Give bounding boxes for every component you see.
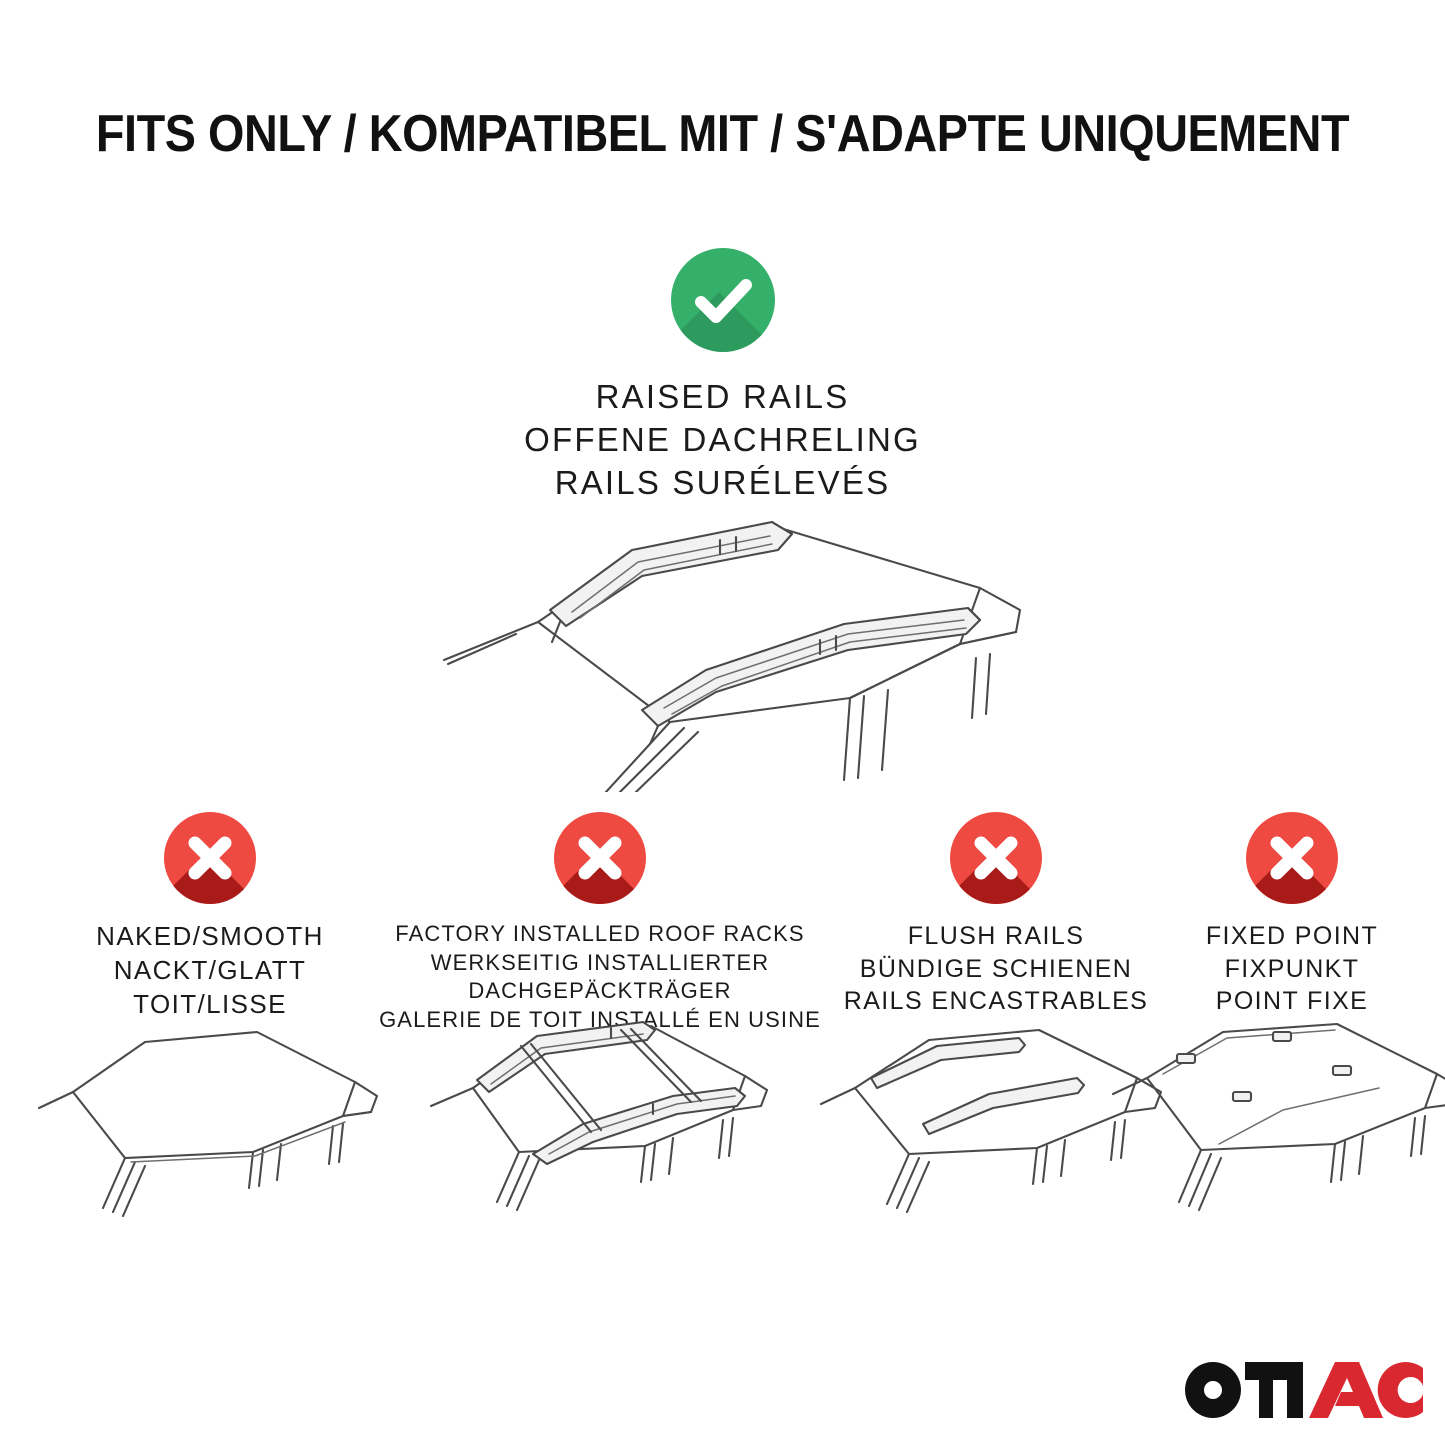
item-label-en: FACTORY INSTALLED ROOF RACKS: [378, 920, 822, 949]
check-circle-icon: [671, 248, 775, 352]
item-label-en: FIXED POINT: [1152, 920, 1432, 953]
item-label-de: NACKT/GLATT: [30, 954, 390, 988]
incompatible-item-fixed-point: FIXED POINT FIXPUNKT POINT FIXE: [1152, 812, 1432, 1018]
item-label-de: BÜNDIGE SCHIENEN: [822, 953, 1170, 986]
x-circle-icon: [1246, 812, 1338, 904]
compatible-label-de: OFFENE DACHRELING: [0, 419, 1445, 462]
compatible-labels: RAISED RAILS OFFENE DACHRELING RAILS SUR…: [0, 376, 1445, 505]
omac-logo: [1183, 1362, 1423, 1418]
logo-letter-m: [1245, 1362, 1303, 1418]
compatible-section: RAISED RAILS OFFENE DACHRELING RAILS SUR…: [0, 248, 1445, 505]
x-mark-glyph: [950, 812, 1042, 904]
item-labels: NAKED/SMOOTH NACKT/GLATT TOIT/LISSE: [30, 920, 390, 1021]
car-roof-with-factory-crossbars-illustration: [415, 1004, 785, 1239]
incompatible-item-flush-rails: FLUSH RAILS BÜNDIGE SCHIENEN RAILS ENCAS…: [822, 812, 1170, 1018]
item-labels: FIXED POINT FIXPUNKT POINT FIXE: [1152, 920, 1432, 1018]
item-label-de: FIXPUNKT: [1152, 953, 1432, 986]
compatible-label-en: RAISED RAILS: [0, 376, 1445, 419]
x-circle-icon: [554, 812, 646, 904]
logo-letter-c: [1378, 1362, 1423, 1418]
car-roof-bare-illustration: [25, 1012, 395, 1247]
car-roof-with-fixed-points-illustration: [1107, 1012, 1445, 1247]
incompatible-item-factory-roof-racks: FACTORY INSTALLED ROOF RACKS WERKSEITIG …: [378, 812, 822, 1034]
item-label-en: NAKED/SMOOTH: [30, 920, 390, 954]
x-circle-icon: [950, 812, 1042, 904]
x-mark-glyph: [164, 812, 256, 904]
item-labels: FLUSH RAILS BÜNDIGE SCHIENEN RAILS ENCAS…: [822, 920, 1170, 1018]
logo-letter-a: [1309, 1362, 1383, 1418]
x-mark-glyph: [1246, 812, 1338, 904]
item-label-de2: DACHGEPÄCKTRÄGER: [378, 977, 822, 1006]
incompatible-item-naked-smooth: NAKED/SMOOTH NACKT/GLATT TOIT/LISSE: [30, 812, 390, 1021]
x-circle-icon: [164, 812, 256, 904]
fitment-compatibility-graphic: FITS ONLY / KOMPATIBEL MIT / S'ADAPTE UN…: [0, 0, 1445, 1445]
x-mark-glyph: [554, 812, 646, 904]
page-title: FITS ONLY / KOMPATIBEL MIT / S'ADAPTE UN…: [72, 104, 1373, 164]
car-roof-with-raised-rails-illustration: [420, 492, 1060, 792]
incompatible-section: NAKED/SMOOTH NACKT/GLATT TOIT/LISSE: [0, 812, 1445, 1282]
item-label-en: FLUSH RAILS: [822, 920, 1170, 953]
check-mark-glyph: [671, 248, 775, 352]
logo-letter-o: [1185, 1362, 1241, 1418]
item-label-de: WERKSEITIG INSTALLIERTER: [378, 949, 822, 978]
